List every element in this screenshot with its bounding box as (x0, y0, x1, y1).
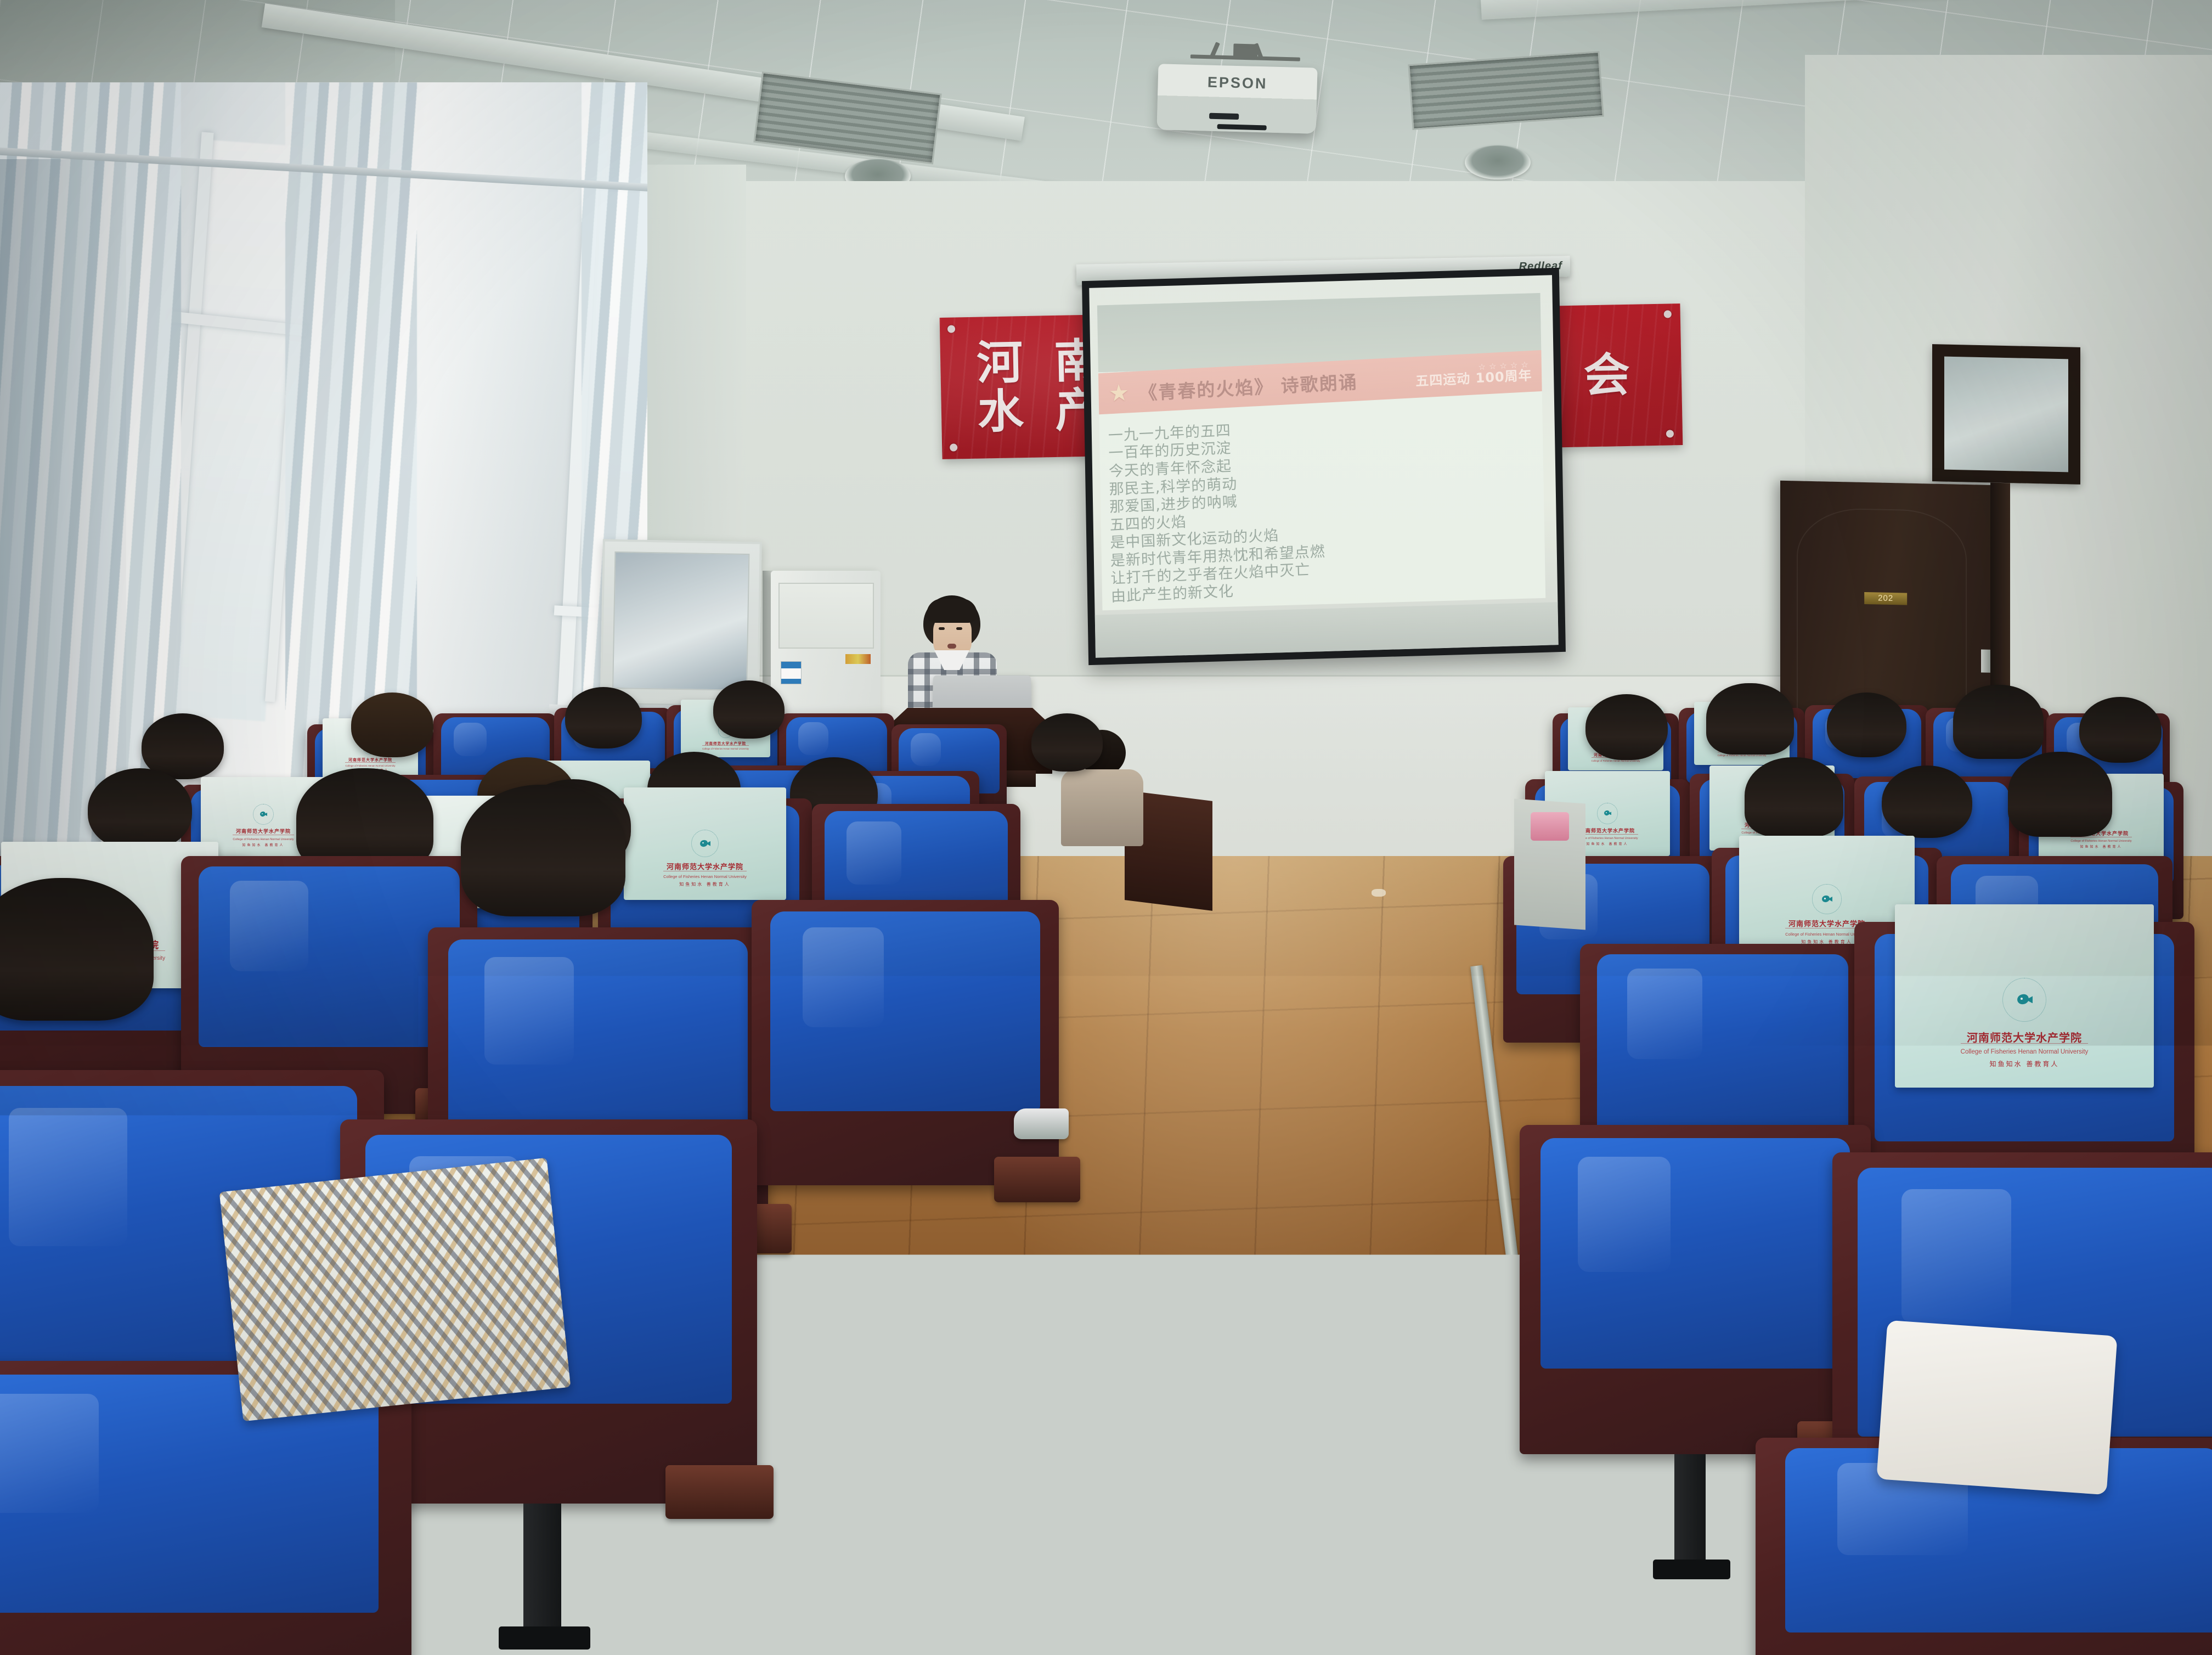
banner-text-right: 会 (1583, 351, 1638, 401)
attendee-head (1953, 685, 2044, 759)
curtain-shadow (0, 159, 126, 862)
presenter-fringe (927, 599, 977, 623)
attendee-head (88, 768, 192, 851)
attendee-head (351, 693, 433, 757)
door-transom-window (1932, 344, 2080, 485)
seat-headrest-cover: 河南师范大学水产学院 College of Fisheries Henan No… (624, 787, 786, 900)
banner-pin (1666, 430, 1674, 437)
attendee-shoe (839, 1306, 944, 1361)
ac-grille-icon (778, 583, 874, 649)
attendee-shoe (603, 1591, 713, 1652)
room-number-plate: 202 (1864, 592, 1907, 605)
ac-energy-label (781, 661, 802, 684)
attendee-torso (1061, 769, 1143, 846)
banner-pin (947, 325, 955, 333)
ceiling-projector: EPSON (1156, 64, 1317, 134)
slide-poem-body: 一九一九年的五四 一百年的历史沉淀 今天的青年怀念起 那民主,科学的萌动 那爱国… (1108, 412, 1536, 607)
presenter-mouth (947, 644, 956, 649)
attendee-head (1031, 713, 1103, 772)
presenter-eye (956, 627, 962, 630)
attendee-head (1745, 757, 1843, 837)
auditorium-seat[interactable] (752, 900, 1059, 1185)
seat-headrest-cover: 河南师范大学水产学院 College of Fisheries Henan No… (1895, 904, 2153, 1088)
attendee-head (1882, 765, 1972, 838)
star-icon: ★ (1108, 381, 1130, 405)
cabinet-glass-pane (612, 551, 749, 691)
attendee-shoe (1014, 1108, 1069, 1139)
attendee-head (565, 687, 642, 748)
white-jacket-on-seat (1876, 1320, 2117, 1495)
projector-vent-icon (1217, 124, 1267, 130)
banner-pin (950, 443, 957, 451)
presenter-eye (939, 627, 945, 630)
attendee-head (2008, 752, 2112, 837)
projector-lens-icon (1209, 113, 1239, 120)
attendee-head (1706, 683, 1794, 755)
door-hinge-icon (1981, 649, 1991, 672)
ac-sticker (845, 654, 871, 664)
screen-blank-area (1095, 602, 1559, 658)
attendee-head (713, 680, 785, 739)
pink-item-on-table (1531, 812, 1569, 841)
attendee-head (1585, 694, 1668, 760)
banner-pin (1664, 310, 1672, 318)
lecture-hall-photo: EPSON (0, 0, 2212, 1655)
projector-brand-label: EPSON (1158, 72, 1317, 94)
attendee-head (1827, 693, 1906, 757)
draped-jacket (219, 1158, 571, 1421)
floor-debris (1372, 889, 1386, 897)
presentation-slide: ★ 《青春的火焰》 诗歌朗诵 ☆☆☆☆☆ 五四运动 100周年 一九一九年的五四… (1097, 293, 1545, 610)
ceiling-air-vent (1408, 51, 1604, 130)
auditorium-seat[interactable] (1520, 1125, 1871, 1454)
downlight-icon (1465, 145, 1531, 179)
slide-title: 《青春的火焰》 诗歌朗诵 (1138, 367, 1358, 405)
attendee-head (2079, 697, 2162, 763)
projection-screen: ★ 《青春的火焰》 诗歌朗诵 ☆☆☆☆☆ 五四运动 100周年 一九一九年的五四… (1082, 268, 1566, 665)
attendee-head (461, 785, 625, 916)
